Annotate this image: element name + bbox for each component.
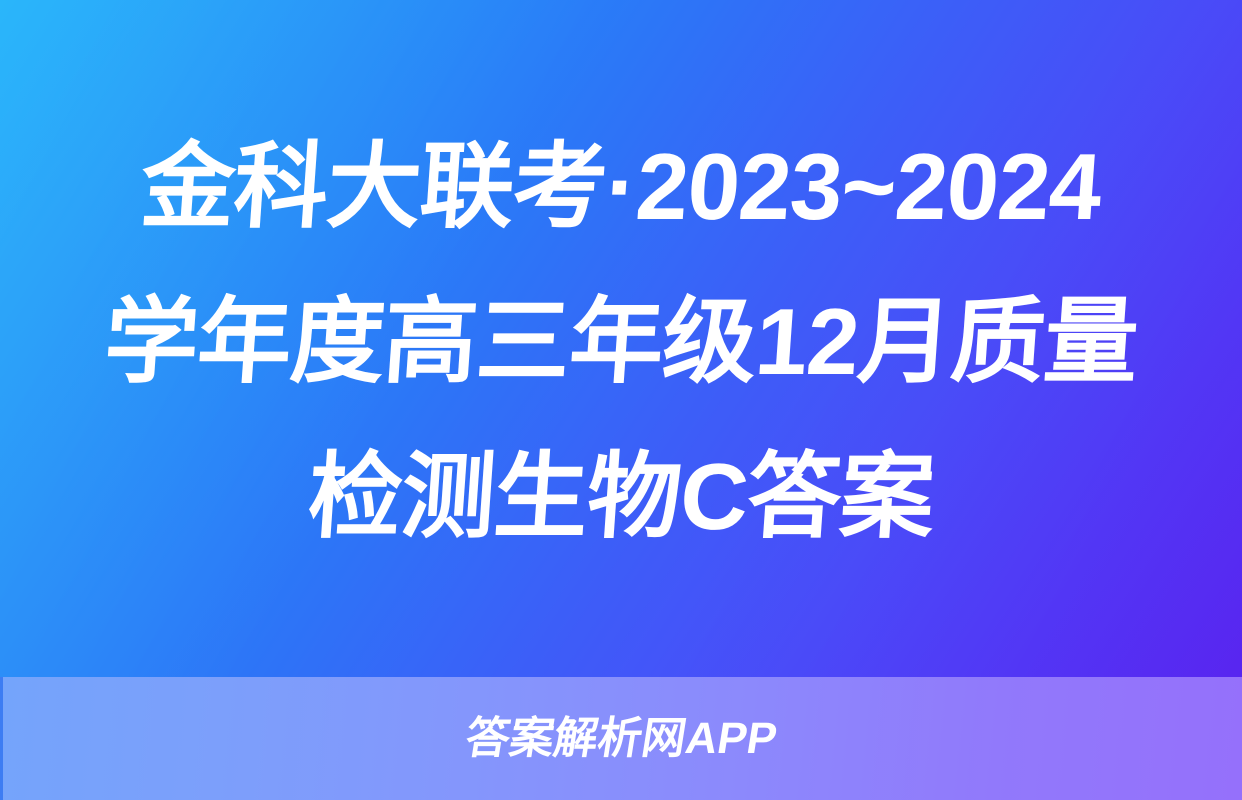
exam-cover-card: 金科大联考·2023~2024 学年度高三年级12月质量 检测生物C答案 答案解… <box>0 0 1242 800</box>
footer-left-edge-strip <box>0 677 3 800</box>
app-watermark-label: 答案解析网APP <box>462 713 781 765</box>
exam-title-block: 金科大联考·2023~2024 学年度高三年级12月质量 检测生物C答案 <box>76 103 1166 574</box>
watermark-footer-band: 答案解析网APP <box>0 677 1242 800</box>
title-line-1: 金科大联考·2023~2024 <box>71 109 1172 264</box>
title-line-3: 检测生物C答案 <box>71 419 1172 574</box>
title-line-2: 学年度高三年级12月质量 <box>71 264 1172 419</box>
hero-gradient-panel: 金科大联考·2023~2024 学年度高三年级12月质量 检测生物C答案 <box>0 0 1242 677</box>
